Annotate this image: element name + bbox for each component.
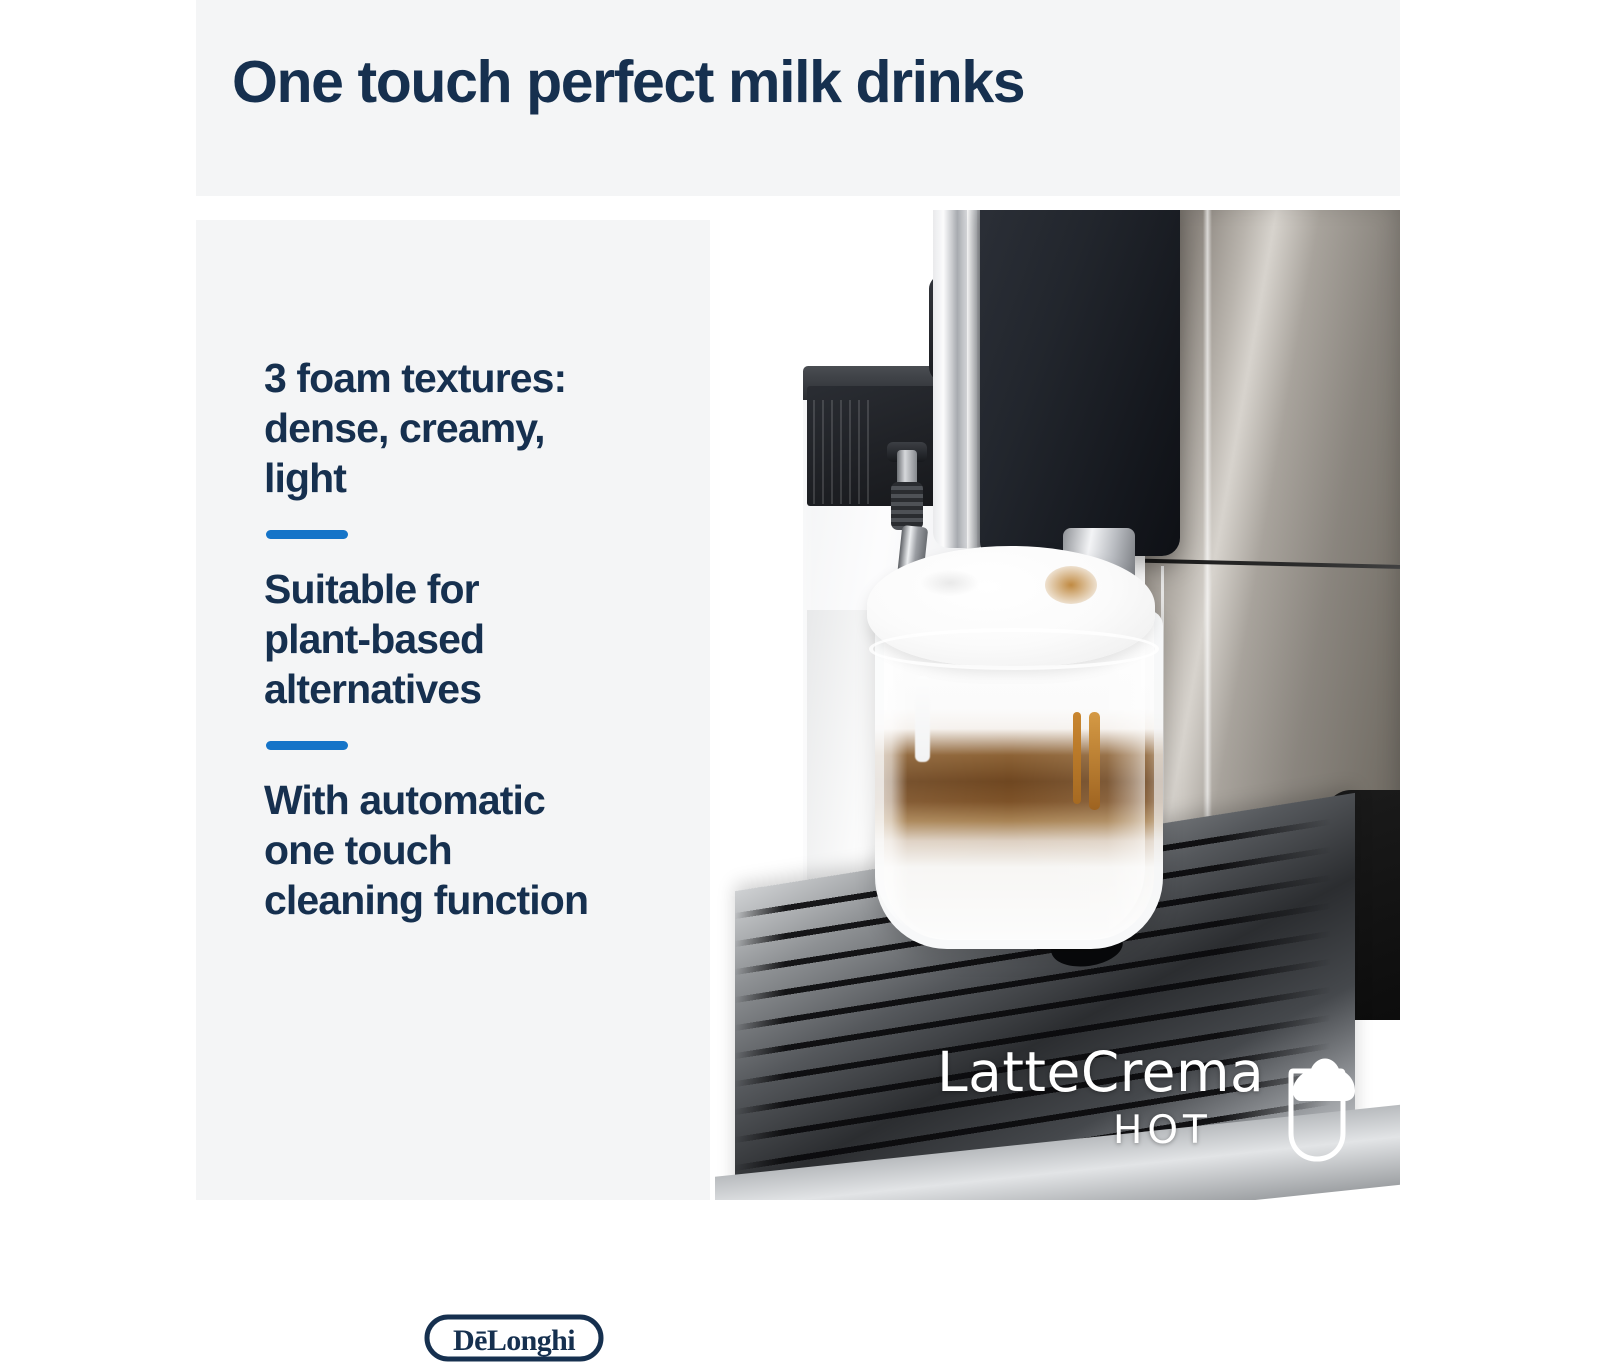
feature-item-3: With automatic one touch cleaning functi… xyxy=(264,775,684,925)
header-band: One touch perfect milk drinks xyxy=(196,0,1400,196)
feature-divider-1 xyxy=(266,530,348,539)
foam-cup-icon xyxy=(1271,1051,1363,1163)
delonghi-logo: DēLonghi xyxy=(424,1314,604,1362)
milk-carafe-ridges xyxy=(813,400,875,504)
coffee-stream-right xyxy=(1089,712,1100,810)
milk-foam-dimple xyxy=(921,570,979,596)
dispenser-head xyxy=(980,210,1180,556)
feature-item-2: Suitable for plant-based alternatives xyxy=(264,564,684,714)
page-title: One touch perfect milk drinks xyxy=(232,52,1024,114)
latte-glass-rim xyxy=(869,628,1159,670)
feature-list: 3 foam textures: dense, creamy, light Su… xyxy=(264,353,684,925)
lattecrema-hot-label: HOT xyxy=(1113,1111,1212,1150)
milk-stream xyxy=(915,676,930,762)
feature-panel: 3 foam textures: dense, creamy, light Su… xyxy=(196,220,710,1200)
lattecrema-badge: LatteCrema HOT xyxy=(937,1045,1377,1180)
feature-divider-2 xyxy=(266,741,348,750)
svg-text:DēLonghi: DēLonghi xyxy=(453,1324,575,1357)
coffee-on-foam xyxy=(1045,566,1097,604)
dispenser-chrome-edge xyxy=(967,210,977,554)
frother-rings xyxy=(891,482,923,530)
product-photo: LatteCrema HOT xyxy=(715,210,1400,1200)
coffee-stream-left xyxy=(1073,712,1081,804)
marketing-card: One touch perfect milk drinks 3 foam tex… xyxy=(0,0,1600,1200)
feature-item-1: 3 foam textures: dense, creamy, light xyxy=(264,353,684,503)
